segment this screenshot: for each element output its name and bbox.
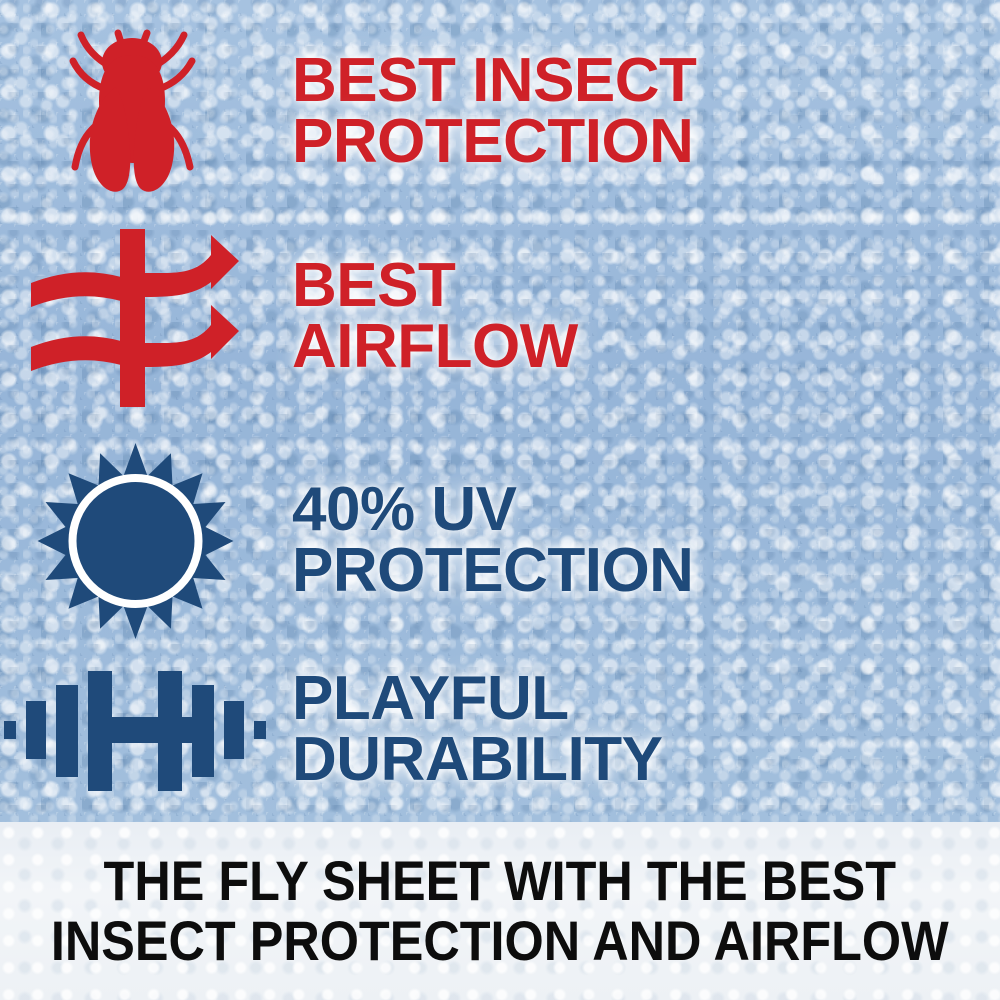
- feature-row-insect-protection: BEST INSECT PROTECTION: [0, 12, 1000, 212]
- feature-text-cell: BEST INSECT PROTECTION: [270, 51, 1000, 173]
- feature-row-airflow: BEST AIRFLOW: [0, 222, 1000, 412]
- feature-text-cell: PLAYFUL DURABILITY: [270, 669, 1000, 791]
- feature-icon-cell: [0, 441, 270, 641]
- sun-uv-icon: [33, 441, 238, 641]
- feature-icon-cell: [0, 225, 270, 410]
- feature-label-airflow: BEST AIRFLOW: [292, 256, 1000, 378]
- airflow-icon: [25, 225, 245, 410]
- feature-row-durability: PLAYFUL DURABILITY: [0, 650, 1000, 810]
- caption-headline: THE FLY SHEET WITH THE BEST INSECT PROTE…: [51, 851, 949, 971]
- feature-label-insect-protection: BEST INSECT PROTECTION: [292, 51, 1000, 173]
- feature-label-uv-protection: 40% UV PROTECTION: [292, 480, 1000, 602]
- feature-text-cell: 40% UV PROTECTION: [270, 480, 1000, 602]
- fly-icon: [55, 17, 215, 207]
- feature-icon-cell: [0, 17, 270, 207]
- caption-band: THE FLY SHEET WITH THE BEST INSECT PROTE…: [0, 822, 1000, 1000]
- feature-label-durability: PLAYFUL DURABILITY: [292, 669, 1000, 791]
- feature-row-uv-protection: 40% UV PROTECTION: [0, 438, 1000, 643]
- dumbbell-icon: [4, 665, 266, 795]
- feature-icon-cell: [0, 665, 270, 795]
- product-feature-poster: BEST INSECT PROTECTION BEST AIRFLOW: [0, 0, 1000, 1000]
- feature-text-cell: BEST AIRFLOW: [270, 256, 1000, 378]
